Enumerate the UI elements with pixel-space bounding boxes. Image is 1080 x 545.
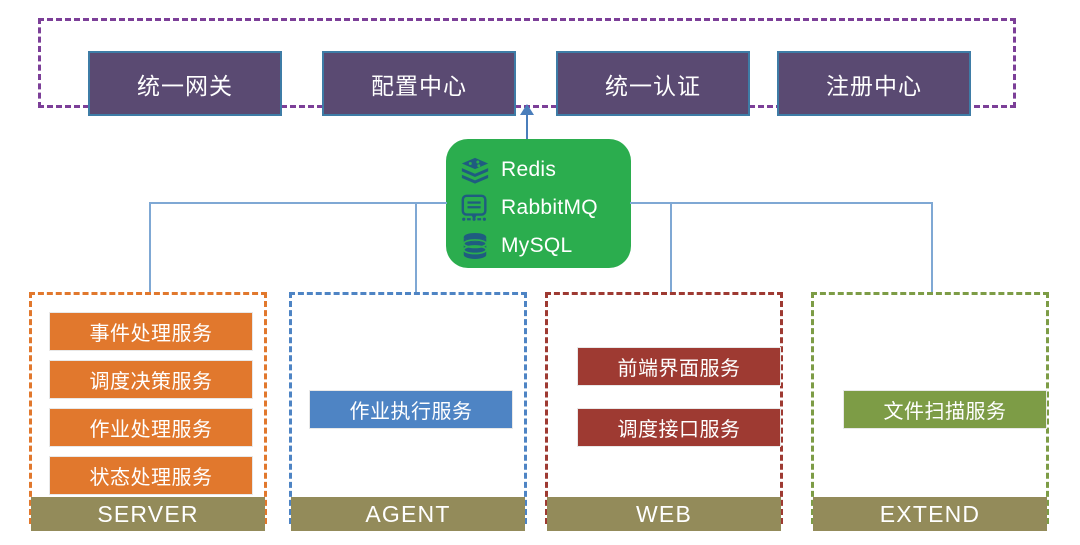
service-box-label: 调度接口服务 xyxy=(618,413,741,442)
platform-box-auth[interactable]: 统一认证 xyxy=(556,51,750,116)
service-box-label: 状态处理服务 xyxy=(90,461,213,490)
group-label-agent: AGENT xyxy=(291,497,525,531)
service-box-label: 事件处理服务 xyxy=(90,317,213,346)
service-box-label: 作业执行服务 xyxy=(350,395,473,424)
connector-drop-agent xyxy=(415,202,417,293)
platform-box-label: 注册中心 xyxy=(826,67,922,101)
middleware-item-label: Redis xyxy=(501,158,556,182)
arrow-middleware-to-platform-stem xyxy=(526,115,528,141)
platform-box-label: 统一网关 xyxy=(137,67,233,101)
middleware-item-mysql: MySQL xyxy=(460,227,631,265)
connector-bus-right xyxy=(630,202,933,204)
service-box-job-execution[interactable]: 作业执行服务 xyxy=(309,390,513,429)
service-box-label: 调度决策服务 xyxy=(90,365,213,394)
group-label-text: AGENT xyxy=(365,501,450,528)
connector-bus-left xyxy=(149,202,447,204)
group-label-server: SERVER xyxy=(31,497,265,531)
middleware-item-redis: Redis xyxy=(460,151,631,189)
middleware-item-rabbitmq: RabbitMQ xyxy=(460,189,631,227)
platform-box-label: 统一认证 xyxy=(605,67,701,101)
stacked-layers-icon xyxy=(460,155,490,185)
platform-box-gateway[interactable]: 统一网关 xyxy=(88,51,282,116)
service-group-agent: 作业执行服务 xyxy=(289,292,527,524)
service-box-file-scan[interactable]: 文件扫描服务 xyxy=(843,390,1047,429)
service-box-job-processing[interactable]: 作业处理服务 xyxy=(49,408,253,447)
connector-drop-server xyxy=(149,202,151,293)
service-group-web: 前端界面服务 调度接口服务 xyxy=(545,292,783,524)
database-cylinder-icon xyxy=(460,231,490,261)
service-box-label: 前端界面服务 xyxy=(618,352,741,381)
connector-drop-web xyxy=(670,202,672,293)
service-box-frontend-ui[interactable]: 前端界面服务 xyxy=(577,347,781,386)
platform-box-registry[interactable]: 注册中心 xyxy=(777,51,971,116)
middleware-item-label: RabbitMQ xyxy=(501,196,598,220)
service-box-label: 文件扫描服务 xyxy=(884,395,1007,424)
service-box-schedule-decision[interactable]: 调度决策服务 xyxy=(49,360,253,399)
service-box-state-processing[interactable]: 状态处理服务 xyxy=(49,456,253,495)
platform-box-config-center[interactable]: 配置中心 xyxy=(322,51,516,116)
group-label-web: WEB xyxy=(547,497,781,531)
middleware-item-label: MySQL xyxy=(501,234,573,258)
connector-drop-extend xyxy=(931,202,933,293)
message-bubble-icon xyxy=(460,193,490,223)
middleware-node[interactable]: Redis RabbitMQ MySQL xyxy=(446,139,631,268)
group-label-extend: EXTEND xyxy=(813,497,1047,531)
group-label-text: WEB xyxy=(636,501,692,528)
platform-group-container: 统一网关 配置中心 统一认证 注册中心 xyxy=(38,18,1016,108)
architecture-diagram-canvas: 统一网关 配置中心 统一认证 注册中心 Redis xyxy=(0,0,1080,545)
service-box-label: 作业处理服务 xyxy=(90,413,213,442)
arrow-middleware-to-platform-head xyxy=(520,104,534,115)
service-box-event-processing[interactable]: 事件处理服务 xyxy=(49,312,253,351)
service-group-extend: 文件扫描服务 xyxy=(811,292,1049,524)
platform-box-label: 配置中心 xyxy=(371,67,467,101)
service-box-schedule-api[interactable]: 调度接口服务 xyxy=(577,408,781,447)
group-label-text: SERVER xyxy=(97,501,198,528)
service-group-server: 事件处理服务 调度决策服务 作业处理服务 状态处理服务 xyxy=(29,292,267,524)
group-label-text: EXTEND xyxy=(880,501,981,528)
